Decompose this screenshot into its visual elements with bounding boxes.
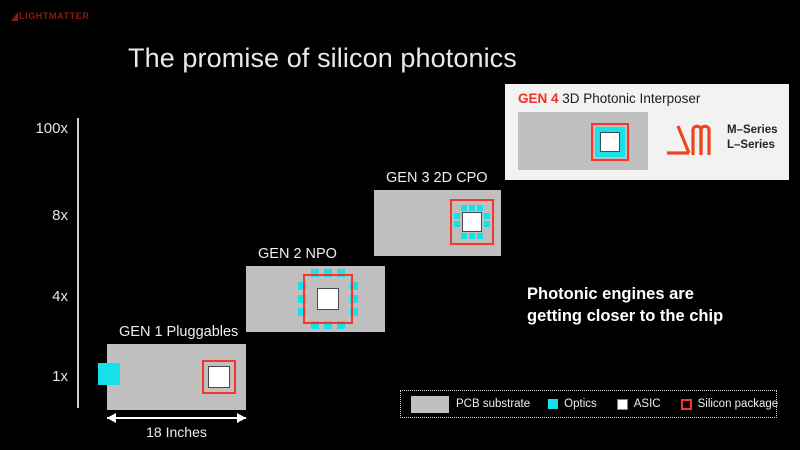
axis-tick-8x: 8x <box>52 208 68 223</box>
legend-label: PCB substrate <box>456 398 530 411</box>
legend-label: Silicon package <box>698 398 779 411</box>
legend-item-pcb-substrate: PCB substrate <box>401 396 530 413</box>
legend-label: ASIC <box>634 398 661 411</box>
gen1-block: GEN 1 Pluggables <box>107 344 246 410</box>
pcb-substrate-swatch-icon <box>411 396 449 413</box>
gen3-asic <box>462 212 482 232</box>
gen3-optics <box>454 221 460 227</box>
y-axis-line <box>77 118 79 408</box>
gen4-card: GEN 4 3D Photonic Interposer M–Series L–… <box>505 84 789 180</box>
gen2-asic <box>317 288 339 310</box>
gen3-optics <box>469 233 475 239</box>
arrow-right-icon <box>237 413 246 423</box>
gen3-optics <box>477 233 483 239</box>
gen1-dimension-label: 18 Inches <box>107 424 246 440</box>
gen4-label: GEN 4 3D Photonic Interposer <box>518 91 700 107</box>
page-title: The promise of silicon photonics <box>128 41 517 75</box>
callout-text: Photonic engines are getting closer to t… <box>527 283 723 327</box>
legend-item-asic: ASIC <box>597 398 661 411</box>
axis-tick-1x: 1x <box>52 369 68 384</box>
arrow-left-icon <box>107 413 116 423</box>
gen3-optics <box>477 205 483 211</box>
gen3-label: GEN 3 2D CPO <box>386 170 488 186</box>
slide-canvas: LIGHTMATTER The promise of silicon photo… <box>0 0 800 450</box>
callout-line-1: Photonic engines are <box>527 283 723 305</box>
gen4-label-accent: GEN 4 <box>518 91 559 106</box>
axis-tick-100x: 100x <box>35 121 68 136</box>
legend-label: Optics <box>564 398 597 411</box>
gen1-label: GEN 1 Pluggables <box>119 324 238 340</box>
gen2-block: GEN 2 NPO <box>246 266 385 332</box>
callout-line-2: getting closer to the chip <box>527 305 723 327</box>
product-m-series: M–Series <box>727 123 778 138</box>
legend: PCB substrate Optics ASIC Silicon packag… <box>400 390 777 418</box>
product-l-series: L–Series <box>727 138 778 153</box>
gen1-asic <box>208 366 230 388</box>
optics-swatch-icon <box>548 399 558 409</box>
legend-item-optics: Optics <box>530 398 597 411</box>
dimension-bar <box>107 417 246 419</box>
silicon-package-swatch-icon <box>681 399 692 410</box>
y-axis-ticks: 100x 8x 4x 1x <box>0 0 68 450</box>
gen3-optics <box>469 205 475 211</box>
gen3-block: GEN 3 2D CPO <box>374 190 501 256</box>
gen3-optics <box>454 213 460 219</box>
asic-swatch-icon <box>617 399 628 410</box>
gen3-optics <box>461 233 467 239</box>
gen3-optics <box>461 205 467 211</box>
gen1-optics <box>98 363 120 385</box>
gen2-label: GEN 2 NPO <box>258 246 337 262</box>
lightmatter-m-logo-icon <box>665 122 719 158</box>
gen4-product-series: M–Series L–Series <box>727 123 778 153</box>
gen1-width-dimension: 18 Inches <box>107 412 246 424</box>
gen4-pcb-substrate <box>518 112 648 170</box>
gen4-label-rest: 3D Photonic Interposer <box>559 91 701 106</box>
gen3-optics <box>484 221 490 227</box>
legend-item-silicon-package: Silicon package <box>661 398 779 411</box>
gen3-optics <box>484 213 490 219</box>
axis-tick-4x: 4x <box>52 289 68 304</box>
gen4-asic <box>600 132 620 152</box>
